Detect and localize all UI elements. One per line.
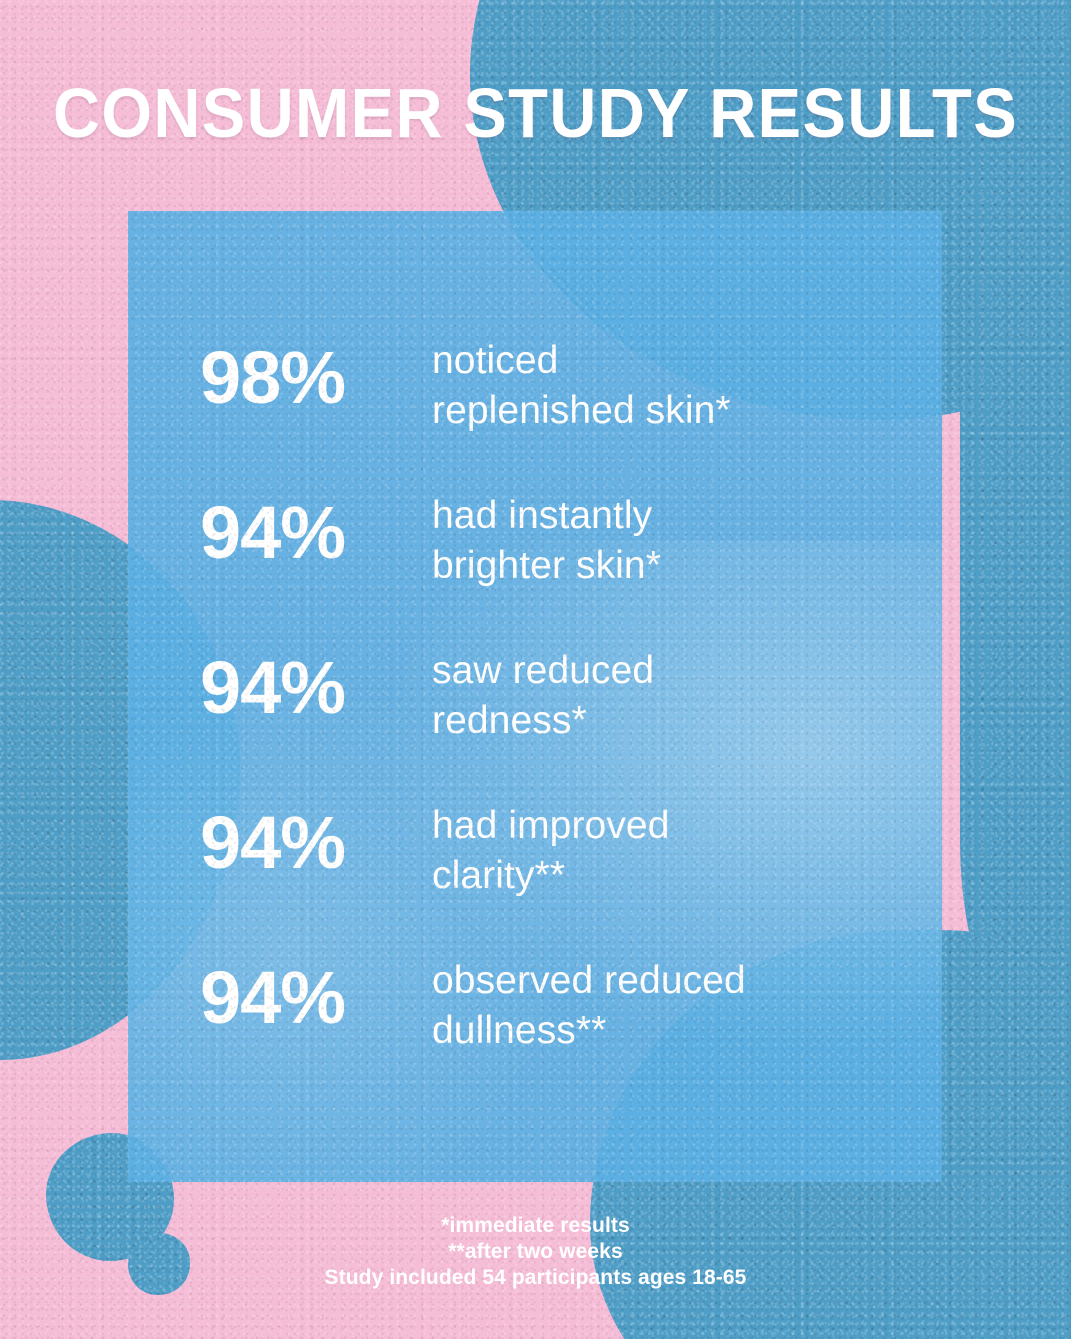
- stat-value: 94%: [200, 950, 432, 1035]
- stat-row: 94% had improved clarity**: [200, 795, 900, 950]
- stat-value: 94%: [200, 795, 432, 880]
- footnote-study-details: Study included 54 participants ages 18-6…: [0, 1265, 1071, 1291]
- stat-row: 94% had instantly brighter skin*: [200, 485, 900, 640]
- stat-label: had improved clarity**: [432, 795, 900, 901]
- page-title: CONSUMER STUDY RESULTS: [37, 78, 1033, 148]
- stat-row: 94% saw reduced redness*: [200, 640, 900, 795]
- stat-label: saw reduced redness*: [432, 640, 900, 746]
- stat-row: 94% observed reduced dullness**: [200, 950, 900, 1105]
- stat-list: 98% noticed replenished skin* 94% had in…: [200, 330, 900, 1105]
- stat-row: 98% noticed replenished skin*: [200, 330, 900, 485]
- stat-value: 94%: [200, 640, 432, 725]
- footnote-immediate-results: *immediate results: [0, 1213, 1071, 1239]
- footnotes: *immediate results **after two weeks Stu…: [0, 1213, 1071, 1291]
- stat-label: had instantly brighter skin*: [432, 485, 900, 591]
- stat-value: 94%: [200, 485, 432, 570]
- footnote-after-two-weeks: **after two weeks: [0, 1239, 1071, 1265]
- stat-value: 98%: [200, 330, 432, 415]
- stat-label: observed reduced dullness**: [432, 950, 900, 1056]
- stat-label: noticed replenished skin*: [432, 330, 900, 436]
- decorative-blob-right-edge: [960, 40, 1071, 1040]
- consumer-study-poster: CONSUMER STUDY RESULTS 98% noticed reple…: [0, 0, 1071, 1339]
